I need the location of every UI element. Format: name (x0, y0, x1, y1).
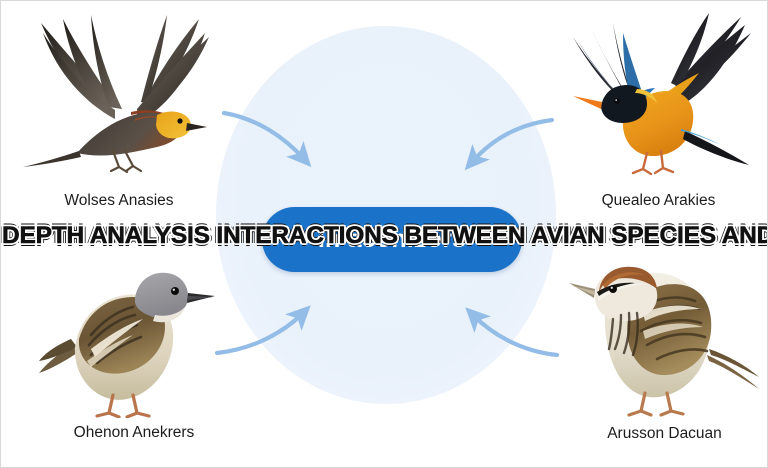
node-bottom-right-label: Arusson Dacuan (607, 425, 722, 443)
node-top-right[interactable]: Quealeo Arakies (561, 11, 756, 210)
flying-bird-icon (561, 11, 756, 191)
perched-bird-icon (39, 253, 229, 423)
node-bottom-right[interactable]: Arusson Dacuan (567, 251, 762, 443)
banner-headline: DEPTH ANALYSIS INTERACTIONS BETWEEN AVIA… (2, 222, 768, 250)
perched-bird-icon (567, 251, 762, 424)
node-bottom-left[interactable]: Ohenon Anekrers (39, 253, 229, 442)
node-top-right-label: Quealeo Arakies (602, 192, 716, 210)
node-top-left-label: Wolses Anasies (64, 192, 173, 210)
infographic-canvas: Wolses Anasies (0, 0, 768, 468)
node-top-left[interactable]: Wolses Anasies (19, 11, 219, 210)
node-bottom-left-label: Ohenon Anekrers (74, 424, 195, 442)
banner-overlay: DEPTH ANALYSIS INTERACTIONS BETWEEN AVIA… (1, 217, 768, 255)
flying-bird-icon (19, 11, 219, 191)
